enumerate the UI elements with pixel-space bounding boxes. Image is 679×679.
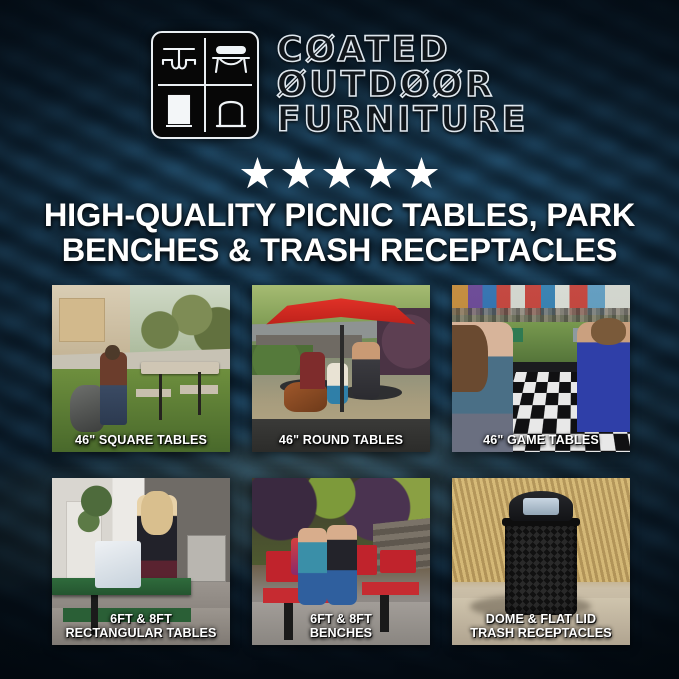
product-photo <box>452 285 630 452</box>
product-caption: 46" SQUARE TABLES <box>55 434 227 447</box>
star-icon <box>323 157 357 191</box>
headline-line-2: BENCHES & TRASH RECEPTACLES <box>28 233 651 268</box>
product-caption: 46" ROUND TABLES <box>255 434 427 447</box>
product-tile-rectangular-tables[interactable]: 6FT & 8FT RECTANGULAR TABLES <box>52 478 230 645</box>
picnic-table-icon <box>153 33 205 85</box>
product-tile-game-tables[interactable]: 46" GAME TABLES <box>452 285 630 452</box>
bike-rack-arch-icon <box>205 85 257 137</box>
brand-name-line-1: CØATED <box>277 33 529 67</box>
caption-line-2: TRASH RECEPTACLES <box>455 627 627 640</box>
product-caption: DOME & FLAT LID TRASH RECEPTACLES <box>455 613 627 640</box>
product-caption: 46" GAME TABLES <box>455 434 627 447</box>
brand-name: CØATED ØUTDØØR FURNITURE <box>277 33 529 138</box>
brand-logo: CØATED ØUTDØØR FURNITURE <box>0 24 679 146</box>
caption-line-1: 46" SQUARE TABLES <box>55 434 227 447</box>
star-icon <box>405 157 439 191</box>
caption-line-1: 46" GAME TABLES <box>455 434 627 447</box>
star-icon <box>241 157 275 191</box>
logo-mark-icon <box>151 31 259 139</box>
headline: HIGH-QUALITY PICNIC TABLES, PARK BENCHES… <box>28 198 651 268</box>
caption-line-1: DOME & FLAT LID <box>455 613 627 626</box>
brand-name-line-2: ØUTDØØR <box>277 68 529 102</box>
caption-line-1: 6FT & 8FT <box>255 613 427 626</box>
product-photo <box>52 285 230 452</box>
product-caption: 6FT & 8FT RECTANGULAR TABLES <box>55 613 227 640</box>
brand-name-line-3: FURNITURE <box>277 103 529 137</box>
caption-line-2: BENCHES <box>255 627 427 640</box>
park-bench-icon <box>205 33 257 85</box>
product-tile-square-tables[interactable]: 46" SQUARE TABLES <box>52 285 230 452</box>
product-tile-round-tables[interactable]: 46" ROUND TABLES <box>252 285 430 452</box>
headline-line-1: HIGH-QUALITY PICNIC TABLES, PARK <box>28 198 651 233</box>
product-tile-trash-receptacles[interactable]: DOME & FLAT LID TRASH RECEPTACLES <box>452 478 630 645</box>
caption-line-1: 6FT & 8FT <box>55 613 227 626</box>
star-icon <box>282 157 316 191</box>
caption-line-1: 46" ROUND TABLES <box>255 434 427 447</box>
star-rating <box>0 156 679 192</box>
product-photo <box>252 285 430 452</box>
product-grid: 46" SQUARE TABLES 46" ROUND TABLES <box>52 285 630 645</box>
product-tile-benches[interactable]: 6FT & 8FT BENCHES <box>252 478 430 645</box>
product-caption: 6FT & 8FT BENCHES <box>255 613 427 640</box>
star-icon <box>364 157 398 191</box>
promotional-banner: CØATED ØUTDØØR FURNITURE HIGH-QUALITY PI… <box>0 0 679 679</box>
caption-line-2: RECTANGULAR TABLES <box>55 627 227 640</box>
trash-receptacle-icon <box>153 85 205 137</box>
